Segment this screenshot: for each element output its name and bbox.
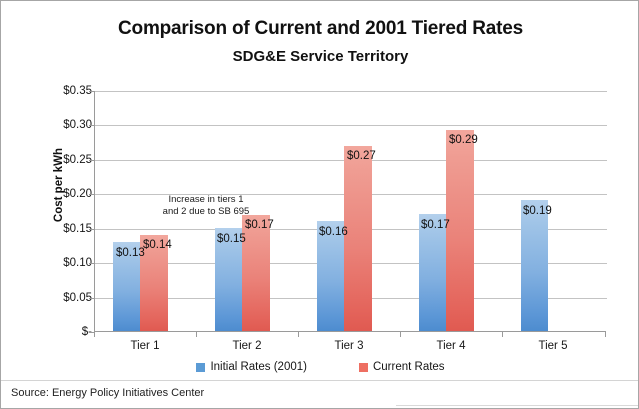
- y-tick-label: $0.05: [14, 292, 92, 304]
- y-tick-label: $0.15: [14, 223, 92, 235]
- bar-tier-4-initial[interactable]: [419, 214, 446, 331]
- chart-title: Comparison of Current and 2001 Tiered Ra…: [1, 18, 639, 40]
- chart-screenshot: Comparison of Current and 2001 Tiered Ra…: [0, 0, 639, 409]
- x-tick-mark: [400, 332, 401, 337]
- legend-item-current-rates[interactable]: Current Rates: [359, 361, 445, 373]
- x-tick-label-tier-4: Tier 4: [396, 340, 506, 352]
- bar-label-tier-1-current: $0.14: [143, 239, 172, 251]
- bar-label-tier-1-initial: $0.13: [116, 247, 145, 259]
- bar-label-tier-2-initial: $0.15: [217, 233, 246, 245]
- y-tick-label: $0.30: [14, 119, 92, 131]
- legend-swatch-icon-initial-rates: [196, 363, 205, 372]
- x-tick-label-tier-1: Tier 1: [90, 340, 200, 352]
- legend-label-initial-rates: Initial Rates (2001): [210, 361, 307, 373]
- bar-label-tier-3-current: $0.27: [347, 150, 376, 162]
- y-tick-label: $0.10: [14, 257, 92, 269]
- bottom-hairline: [396, 405, 639, 406]
- legend-item-initial-rates[interactable]: Initial Rates (2001): [196, 361, 307, 373]
- y-tick-label: $0.25: [14, 154, 92, 166]
- bar-label-tier-5-initial: $0.19: [523, 205, 552, 217]
- bar-label-tier-4-current: $0.29: [449, 134, 478, 146]
- bar-tier-2-current[interactable]: [242, 215, 270, 331]
- x-tick-mark: [298, 332, 299, 337]
- y-tick-label: $-: [14, 326, 92, 338]
- gridline: [95, 91, 607, 92]
- x-tick-mark: [502, 332, 503, 337]
- bar-tier-4-current[interactable]: [446, 130, 474, 331]
- footer-divider: [1, 380, 639, 381]
- annotation-line-1: Increase in tiers 1: [138, 194, 274, 206]
- chart-subtitle: SDG&E Service Territory: [1, 48, 639, 65]
- source-note: Source: Energy Policy Initiatives Center: [11, 387, 204, 399]
- x-tick-label-tier-3: Tier 3: [294, 340, 404, 352]
- x-tick-mark: [94, 332, 95, 337]
- bar-tier-5-initial[interactable]: [521, 200, 548, 331]
- y-axis-tick-labels: $0.35 $0.30 $0.25 $0.20 $0.15 $0.10 $0.0…: [6, 1, 92, 409]
- bar-label-tier-4-initial: $0.17: [421, 219, 450, 231]
- x-tick-mark: [196, 332, 197, 337]
- gridline: [95, 125, 607, 126]
- bar-label-tier-2-current: $0.17: [245, 219, 274, 231]
- legend-swatch-icon-current-rates: [359, 363, 368, 372]
- y-tick-label: $0.35: [14, 85, 92, 97]
- x-tick-label-tier-2: Tier 2: [192, 340, 302, 352]
- y-tick-label: $0.20: [14, 188, 92, 200]
- legend-label-current-rates: Current Rates: [373, 361, 445, 373]
- x-tick-label-tier-5: Tier 5: [498, 340, 608, 352]
- bar-tier-3-current[interactable]: [344, 146, 372, 331]
- x-tick-mark: [605, 332, 606, 337]
- annotation-line-2: and 2 due to SB 695: [138, 206, 274, 218]
- bar-label-tier-3-initial: $0.16: [319, 226, 348, 238]
- chart-legend: Initial Rates (2001) Current Rates: [1, 361, 639, 373]
- annotation-sb695: Increase in tiers 1 and 2 due to SB 695: [138, 194, 274, 218]
